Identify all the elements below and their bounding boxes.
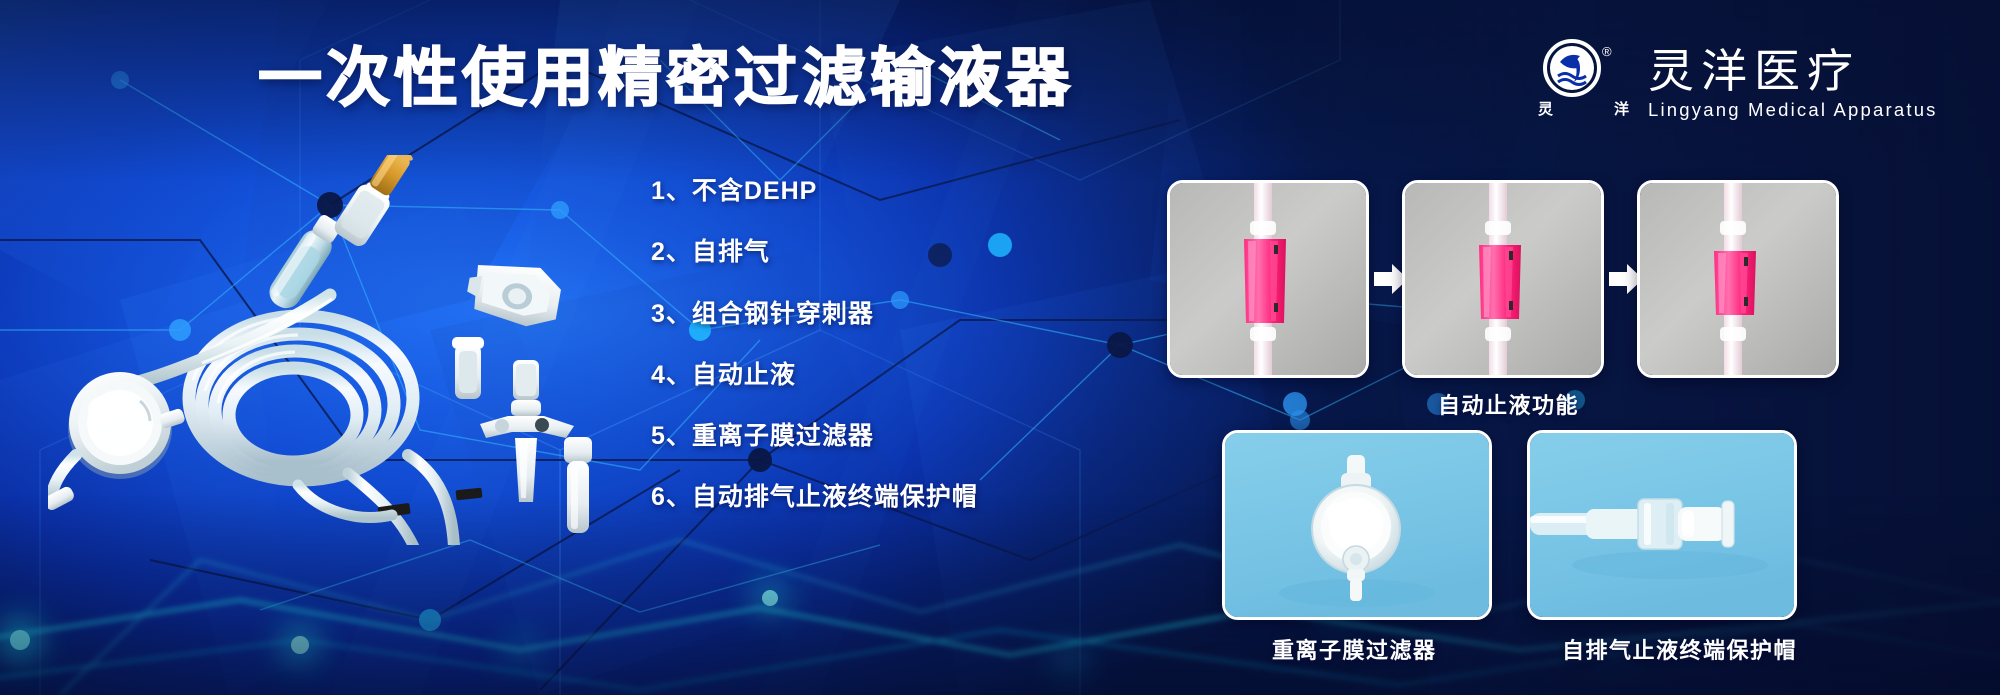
logo-mark-wrapper: ® 灵 洋 <box>1538 38 1634 130</box>
caption-protective-cap: 自排气止液终端保护帽 <box>1562 633 1797 665</box>
svg-text:®: ® <box>1602 44 1612 59</box>
feature-item-5: 5、重离子膜过滤器 <box>651 421 978 452</box>
product-photo-infusion-set <box>48 155 668 545</box>
feature-list: 1、不含DEHP 2、自排气 3、组合钢针穿刺器 4、自动止液 5、重离子膜过滤… <box>651 176 978 514</box>
caption-heavy-ion-membrane-filter: 重离子膜过滤器 <box>1272 633 1437 665</box>
logo-char-ling: 灵 <box>1538 98 1554 119</box>
feature-item-4: 4、自动止液 <box>651 360 978 391</box>
photo-heavy-ion-membrane-filter <box>1222 430 1492 620</box>
company-name-en: Lingyang Medical Apparatus <box>1648 99 1938 121</box>
feature-item-6: 6、自动排气止液终端保护帽 <box>651 482 978 513</box>
photo-protective-cap <box>1527 430 1797 620</box>
page-title: 一次性使用精密过滤输液器 <box>258 46 1074 110</box>
logo-mark-subtext: 灵 洋 <box>1538 98 1630 119</box>
caption-auto-stop-function: 自动止液功能 <box>1438 388 1579 420</box>
photo-auto-stop-stage-3 <box>1637 180 1839 378</box>
photo-auto-stop-stage-2 <box>1402 180 1604 378</box>
company-name-cn: 灵洋医疗 <box>1648 47 1938 95</box>
feature-item-1: 1、不含DEHP <box>651 176 978 207</box>
photo-auto-stop-stage-1 <box>1167 180 1369 378</box>
logo-char-yang: 洋 <box>1614 98 1630 119</box>
feature-item-2: 2、自排气 <box>651 237 978 268</box>
lingyang-wave-circle-icon: ® <box>1538 38 1634 98</box>
product-banner: 一次性使用精密过滤输液器 ® 灵 洋 灵洋医疗 Lingyang Medical… <box>0 0 2000 695</box>
brand-text-block: 灵洋医疗 Lingyang Medical Apparatus <box>1648 47 1938 120</box>
feature-item-3: 3、组合钢针穿刺器 <box>651 299 978 330</box>
brand-logo: ® 灵 洋 灵洋医疗 Lingyang Medical Apparatus <box>1538 38 1938 130</box>
